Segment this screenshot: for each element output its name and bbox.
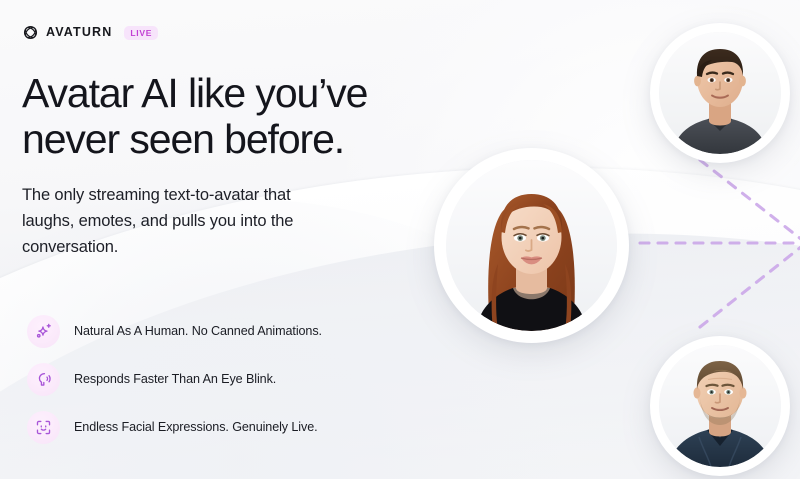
feature-item-expressions: Endless Facial Expressions. Genuinely Li… [27, 408, 322, 446]
avatar-portrait-young-man [659, 32, 781, 154]
avatar-top-right[interactable] [650, 23, 790, 163]
brand-name: AVATURN [46, 26, 112, 39]
face-scan-smile-icon [27, 411, 60, 444]
subhead-line-3: conversation. [22, 238, 118, 256]
live-badge: LIVE [124, 26, 158, 40]
avatar-portrait-red-hair-woman [446, 160, 617, 331]
speaking-head-icon [27, 363, 60, 396]
headline-line-1: Avatar AI like you’ve [22, 70, 367, 116]
brand-logo[interactable]: AVATURN LIVE [22, 24, 158, 41]
avatar-center[interactable] [434, 148, 629, 343]
feature-list: Natural As A Human. No Canned Animations… [27, 312, 322, 446]
avatar-photo [659, 345, 781, 467]
subhead-line-1: The only streaming text-to-avatar that [22, 186, 291, 204]
feature-label: Responds Faster Than An Eye Blink. [74, 372, 276, 386]
avatar-bottom-right[interactable] [650, 336, 790, 476]
feature-label: Natural As A Human. No Canned Animations… [74, 324, 322, 338]
avaturn-orb-icon [22, 24, 39, 41]
subhead-line-2: laughs, emotes, and pulls you into the [22, 212, 293, 230]
hero-subheadline: The only streaming text-to-avatar that l… [22, 182, 392, 260]
page-title: Avatar AI like you’ve never seen before. [22, 71, 452, 163]
feature-item-natural: Natural As A Human. No Canned Animations… [27, 312, 322, 350]
feature-label: Endless Facial Expressions. Genuinely Li… [74, 420, 318, 434]
hero-section: Avatar AI like you’ve never seen before.… [22, 71, 452, 260]
headline-line-2: never seen before. [22, 116, 344, 162]
avatar-photo [659, 32, 781, 154]
feature-item-responds: Responds Faster Than An Eye Blink. [27, 360, 322, 398]
avatar-photo [446, 160, 617, 331]
sparkle-star-icon [27, 315, 60, 348]
avatar-portrait-mature-man [659, 345, 781, 467]
